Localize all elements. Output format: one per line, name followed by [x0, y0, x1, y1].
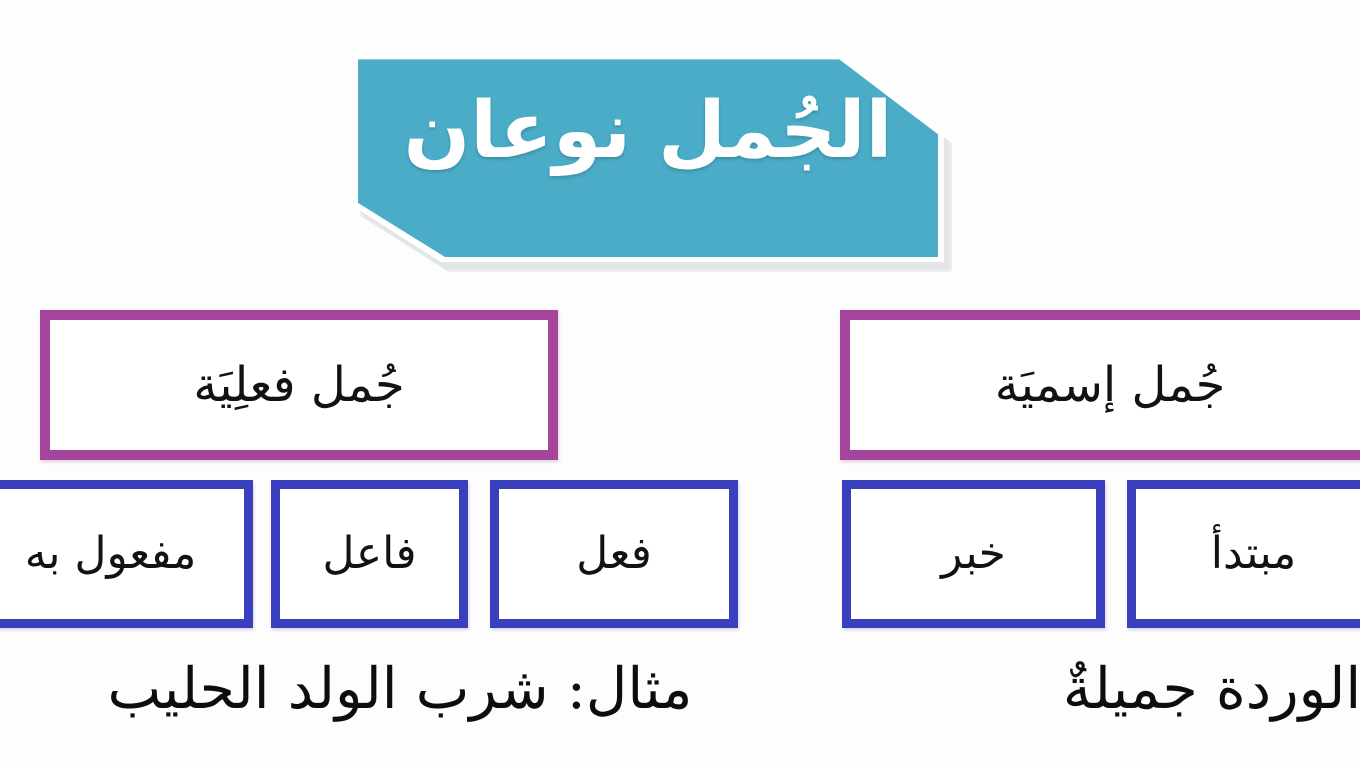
example-nominal-sentence: ل: الوردة جميلةٌ: [880, 660, 1360, 720]
title-banner: الجُمل نوعان: [352, 44, 952, 272]
example-verbal-sentence: مثال: شرب الولد الحليب: [40, 660, 760, 720]
branch-box-verbal[interactable]: جُمل فعلِيَة: [40, 310, 558, 460]
component-box-khabar[interactable]: خبر: [842, 480, 1105, 628]
branch-box-nominal[interactable]: جُمل إسميَة: [840, 310, 1360, 460]
component-box-fail[interactable]: فاعل: [271, 480, 468, 628]
component-box-mubtada[interactable]: مبتدأ: [1127, 480, 1360, 628]
component-box-fil[interactable]: فعل: [490, 480, 738, 628]
page-title: الجُمل نوعان: [358, 49, 938, 257]
component-box-mafool-bihi[interactable]: مفعول به: [0, 480, 253, 628]
diagram-canvas: الجُمل نوعان جُمل فعلِيَة جُمل إسميَة مف…: [0, 0, 1360, 765]
title-banner-fill: الجُمل نوعان: [358, 49, 938, 257]
